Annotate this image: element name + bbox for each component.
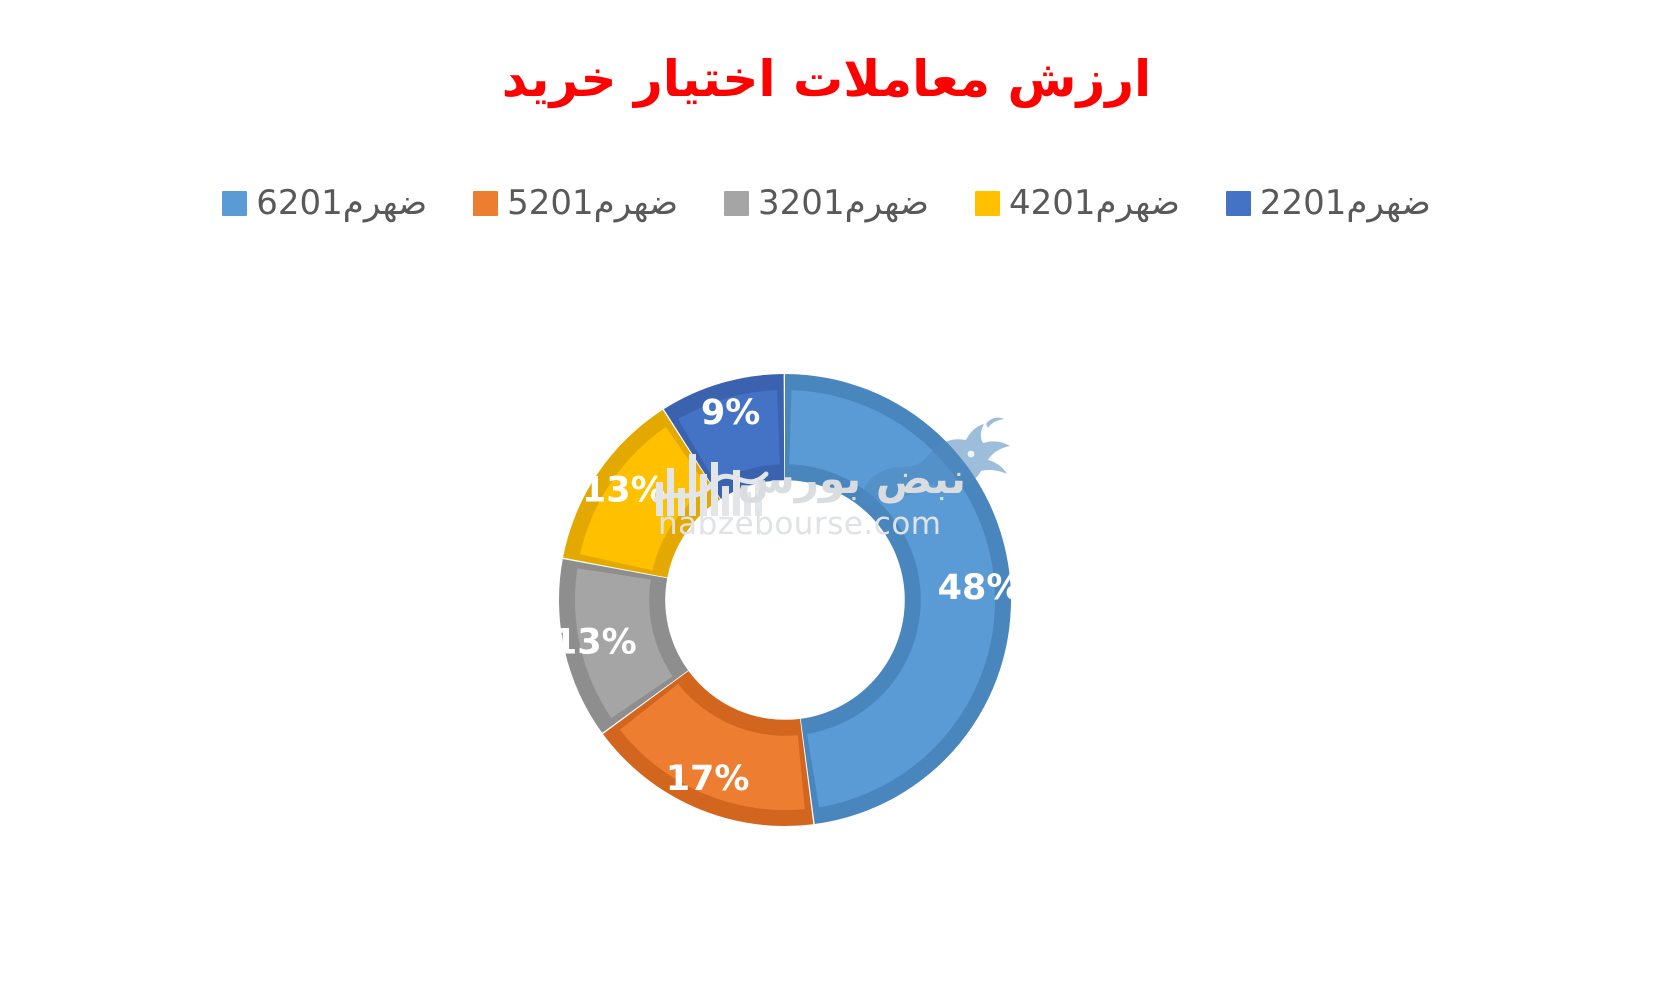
- legend-item-4[interactable]: ضهرم1022: [1226, 186, 1431, 220]
- donut-slice-2[interactable]: [575, 568, 673, 718]
- legend-swatch-icon-1: [473, 191, 498, 216]
- donut-slice-edge-3: [563, 410, 720, 578]
- page-title: ارزش معاملات اختیار خرید: [0, 52, 1653, 107]
- legend-label-0: ضهرم1026: [256, 186, 427, 220]
- donut-slice-value-label-3: 13%: [582, 470, 666, 510]
- donut-slice-value-label-2: 13%: [553, 623, 637, 663]
- donut-slice-1[interactable]: [620, 684, 805, 810]
- donut-chart-svg: 48%17%13%13%9%: [0, 0, 1653, 993]
- donut-slice-value-label-0: 48%: [938, 568, 1022, 608]
- donut-slice-value-label-4: 9%: [701, 393, 760, 433]
- chart-legend: ضهرم1026 ضهرم1025 ضهرم1023 ضهرم1024 ضهرم…: [0, 186, 1653, 220]
- donut-hole: [667, 482, 903, 718]
- legend-swatch-icon-3: [975, 191, 1000, 216]
- legend-label-3: ضهرم1024: [1009, 186, 1180, 220]
- watermark-text-fa: نبض بورس: [737, 454, 966, 503]
- donut-slice-value-label-1: 17%: [666, 759, 750, 799]
- donut-slice-0[interactable]: [789, 390, 995, 807]
- bar-chart-watermark-icon: [654, 448, 784, 528]
- legend-swatch-icon-0: [222, 191, 247, 216]
- legend-label-4: ضهرم1022: [1260, 186, 1431, 220]
- legend-item-2[interactable]: ضهرم1023: [724, 186, 929, 220]
- legend-item-1[interactable]: ضهرم1025: [473, 186, 678, 220]
- donut-slice-edge-2: [559, 559, 688, 733]
- legend-swatch-icon-4: [1226, 191, 1251, 216]
- donut-chart: 48%17%13%13%9%: [0, 0, 1653, 993]
- legend-label-1: ضهرم1025: [507, 186, 678, 220]
- donut-slice-edge-4: [664, 374, 784, 499]
- legend-label-2: ضهرم1023: [758, 186, 929, 220]
- legend-item-0[interactable]: ضهرم1026: [222, 186, 427, 220]
- chart-page: ارزش معاملات اختیار خرید ضهرم1026 ضهرم10…: [0, 0, 1653, 993]
- donut-slice-edge-0: [785, 374, 1011, 824]
- donut-slice-edge-1: [603, 671, 813, 826]
- donut-slice-3[interactable]: [580, 427, 708, 570]
- legend-swatch-icon-2: [724, 191, 749, 216]
- legend-item-3[interactable]: ضهرم1024: [975, 186, 1180, 220]
- bull-logo-icon: [840, 410, 1030, 530]
- watermark: نبض بورس nabzebourse.com: [640, 430, 970, 550]
- watermark-text-en: nabzebourse.com: [658, 506, 942, 542]
- donut-slice-4[interactable]: [678, 390, 780, 483]
